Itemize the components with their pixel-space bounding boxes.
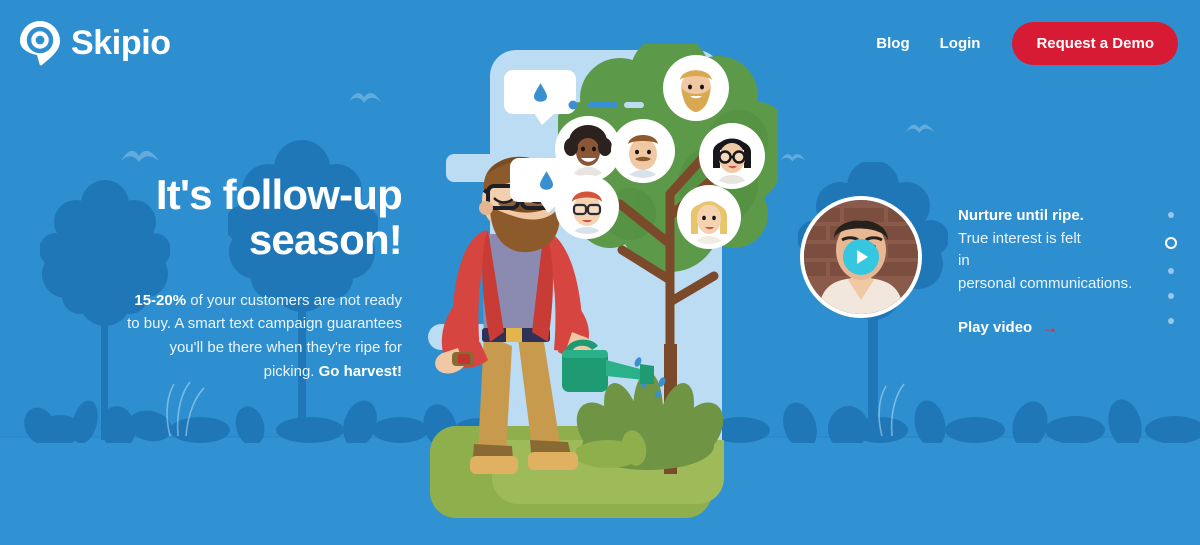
hero-body-text: 15-20% of your customers are not ready t… (118, 289, 402, 384)
water-drop-icon (540, 171, 553, 190)
video-caption-headline-text: Nurture until ripe. (958, 207, 1084, 224)
carousel-dot-4[interactable] (1168, 293, 1174, 299)
hero-cta-text: Go harvest! (319, 363, 402, 380)
video-caption-line2: True interest is felt (958, 228, 1166, 251)
avatar-man-mustache (616, 124, 670, 178)
main-nav: Blog Login Request a Demo (861, 22, 1178, 65)
watering-can (558, 336, 658, 406)
arrow-right-icon: → (1041, 319, 1058, 336)
video-caption: Nurture until ripe. True interest is fel… (958, 205, 1166, 337)
bird-icon (120, 145, 160, 167)
video-caption-line4: personal communications. (958, 273, 1166, 296)
avatar-woman-curly-dark-hair (560, 121, 616, 177)
gardener-watering-tree-illustration (418, 36, 778, 545)
video-caption-line3: in (958, 250, 1166, 273)
bird-icon (348, 88, 382, 107)
location-pin-icon (18, 20, 62, 66)
hero-copy: It's follow-up season! 15-20% of your cu… (118, 172, 402, 383)
play-video-label: Play video (958, 319, 1032, 336)
site-header: Skipio Blog Login Request a Demo (0, 0, 1200, 86)
carousel-dot-2-active[interactable] (1165, 237, 1177, 249)
hero-section: Skipio Blog Login Request a Demo It's fo… (0, 0, 1200, 545)
logo[interactable]: Skipio (18, 20, 171, 66)
video-thumbnail-man-in-white-shirt[interactable] (800, 196, 922, 318)
nav-link-blog[interactable]: Blog (861, 27, 924, 60)
carousel-dot-5[interactable] (1168, 318, 1174, 324)
logo-text: Skipio (71, 26, 171, 60)
play-icon[interactable] (843, 239, 879, 275)
hero-stat: 15-20% (134, 292, 186, 309)
nav-link-login[interactable]: Login (925, 27, 996, 60)
avatar-man-red-hair-glasses (560, 180, 614, 234)
bird-icon (905, 120, 935, 137)
play-video-link[interactable]: Play video → (958, 319, 1058, 336)
avatar-woman-glasses-black-hair (704, 128, 760, 184)
request-demo-button[interactable]: Request a Demo (1012, 22, 1178, 65)
video-caption-headline: Nurture until ripe. (958, 205, 1166, 228)
carousel-dot-3[interactable] (1168, 268, 1174, 274)
bird-icon (780, 150, 806, 165)
carousel-dots (1165, 212, 1177, 324)
avatar-woman-blonde (682, 190, 736, 244)
video-thumbnail-wrapper[interactable] (800, 196, 922, 318)
carousel-dot-1[interactable] (1168, 212, 1174, 218)
typing-indicator (568, 100, 644, 110)
page-title: It's follow-up season! (118, 172, 402, 263)
